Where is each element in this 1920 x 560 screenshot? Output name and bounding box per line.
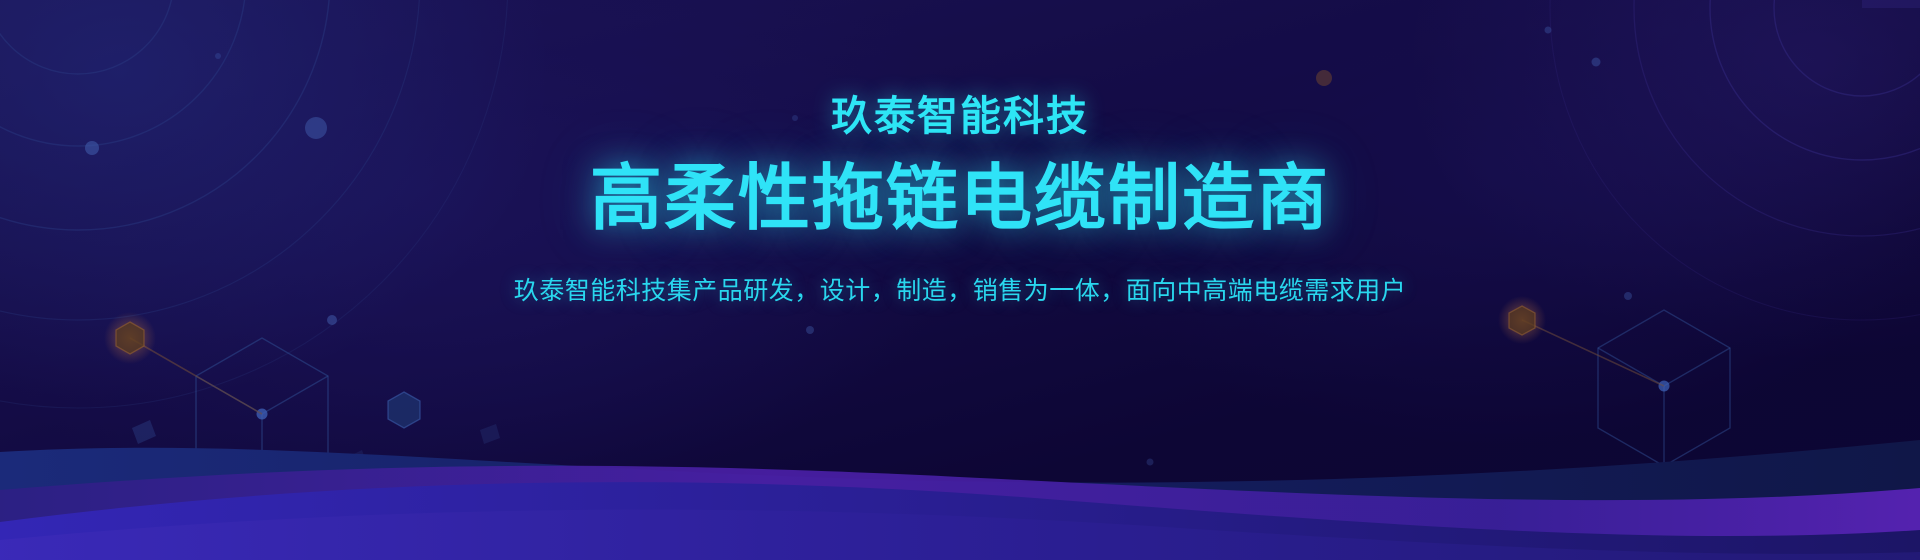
hero-banner: 玖泰智能科技 高柔性拖链电缆制造商 玖泰智能科技集产品研发，设计，制造，销售为一… bbox=[0, 0, 1920, 560]
page-title: 高柔性拖链电缆制造商 bbox=[590, 163, 1330, 235]
company-name: 玖泰智能科技 bbox=[831, 96, 1089, 137]
page-subtitle: 玖泰智能科技集产品研发，设计，制造，销售为一体，面向中高端电缆需求用户 bbox=[514, 275, 1407, 308]
banner-content: 玖泰智能科技 高柔性拖链电缆制造商 玖泰智能科技集产品研发，设计，制造，销售为一… bbox=[0, 0, 1920, 560]
